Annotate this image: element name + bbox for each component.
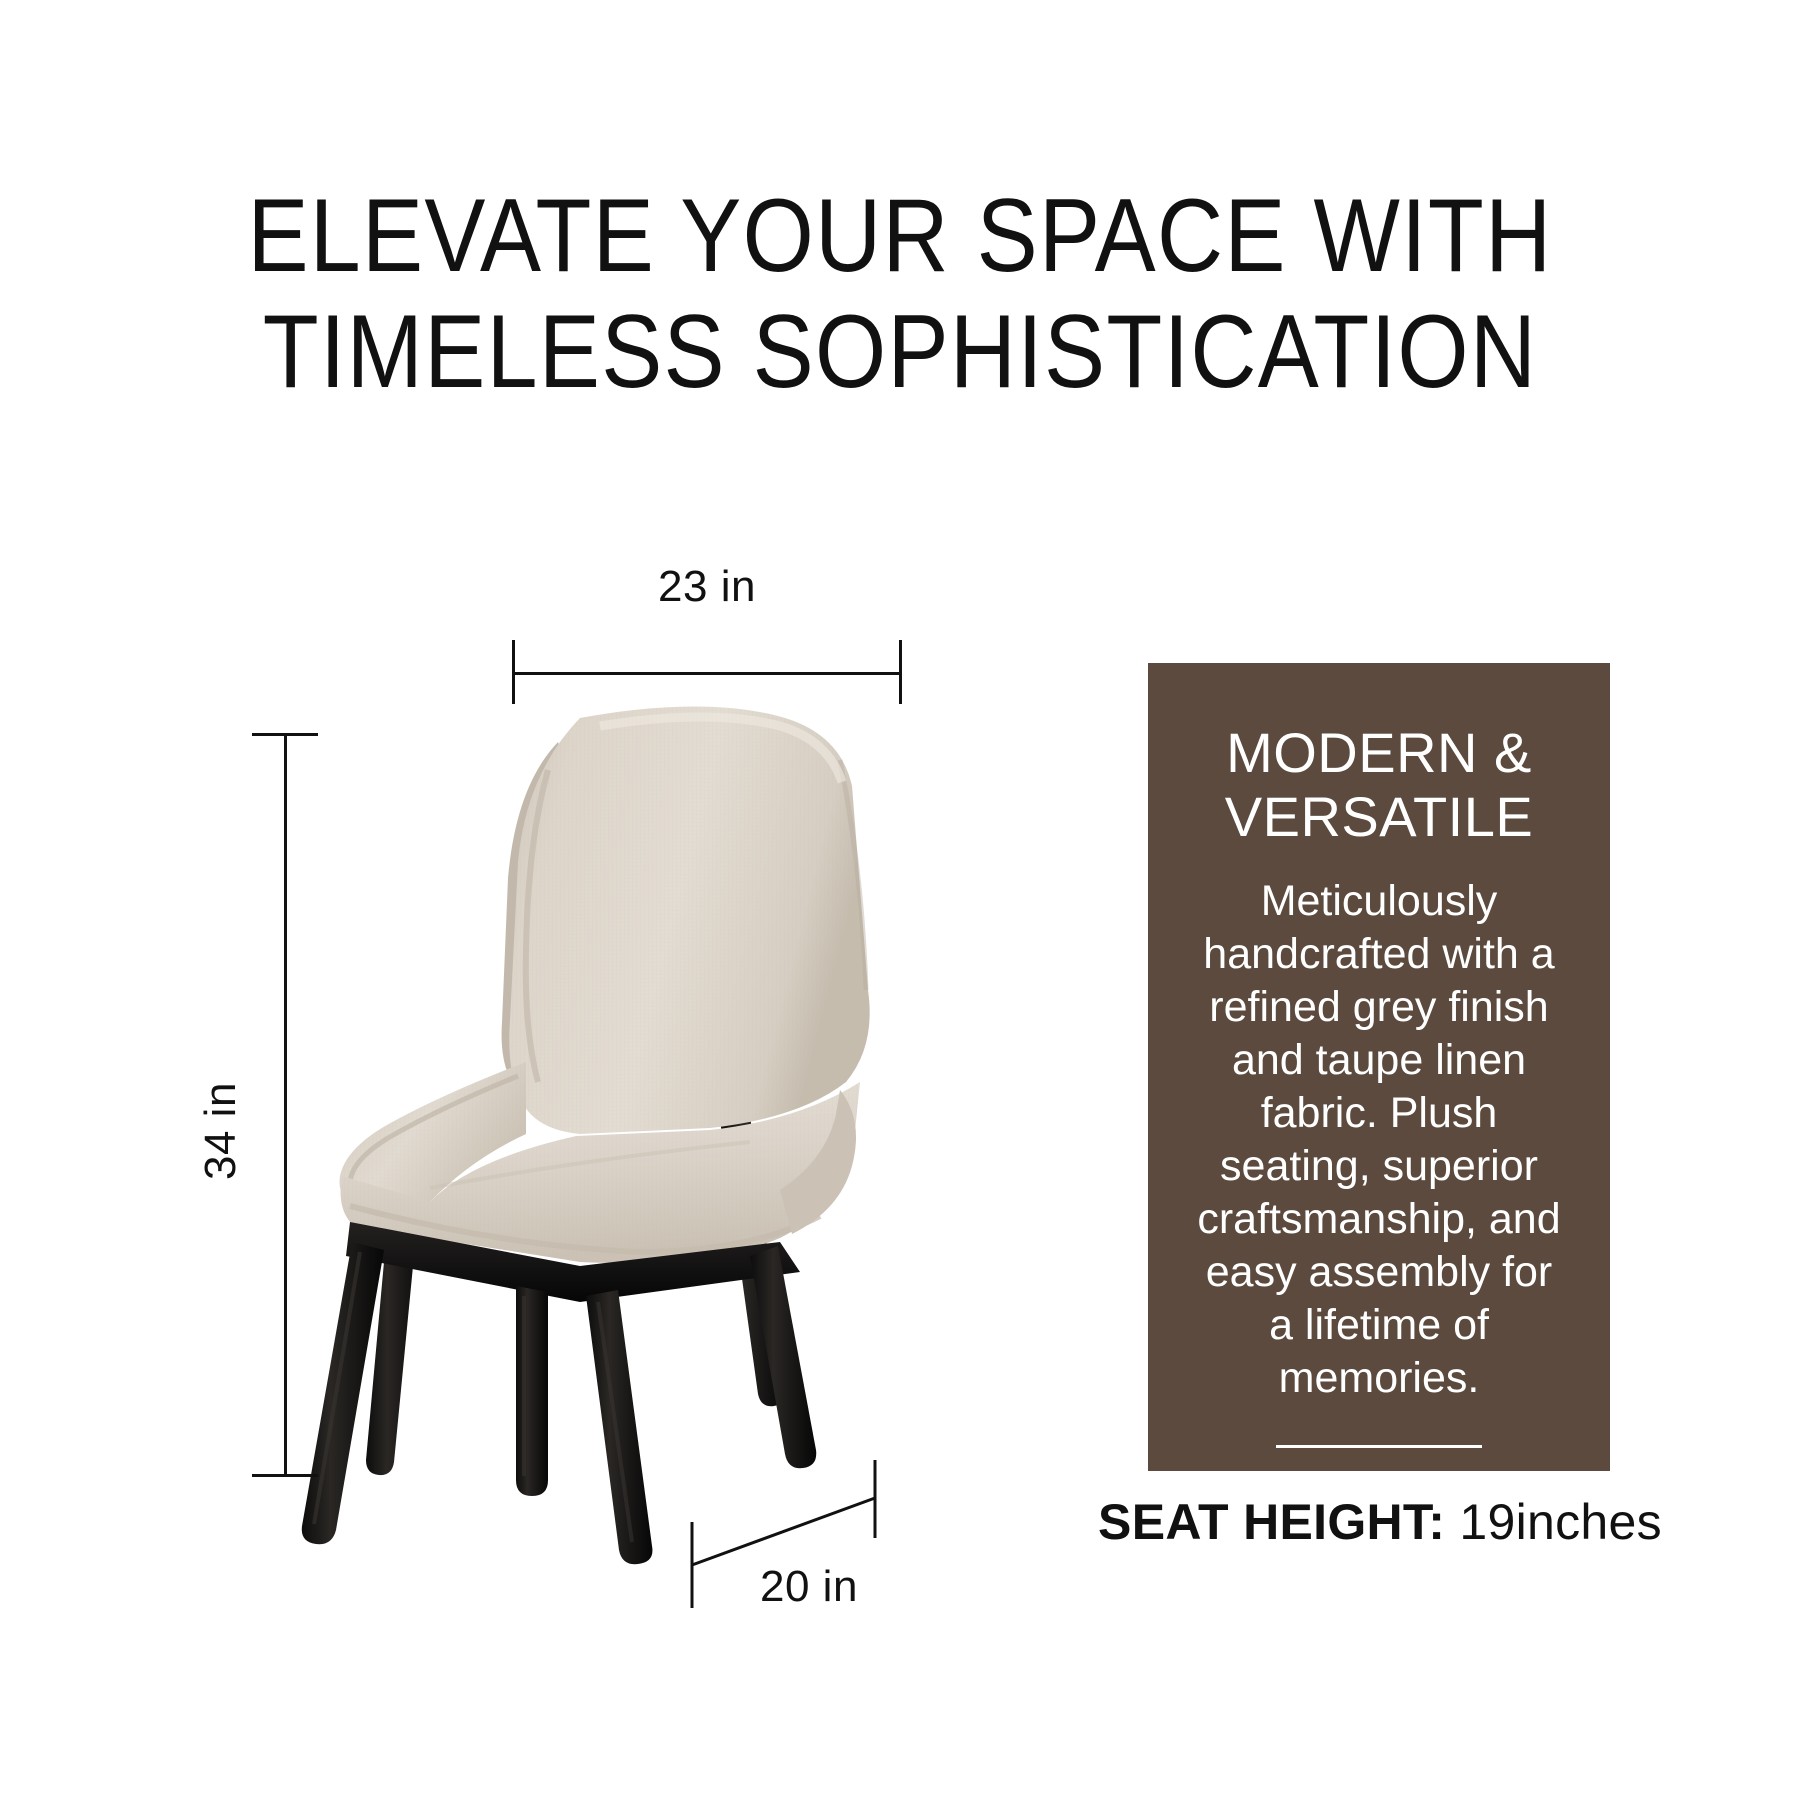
infographic-canvas: ELEVATE YOUR SPACE WITH TIMELESS SOPHIST…	[0, 0, 1800, 1800]
page-title: ELEVATE YOUR SPACE WITH TIMELESS SOPHIST…	[108, 178, 1692, 410]
height-dimension-bar	[284, 733, 287, 1477]
depth-dimension-label: 20 in	[760, 1562, 858, 1612]
height-dimension-tick-top	[252, 733, 318, 736]
chair-leg-front-left	[302, 1242, 384, 1544]
height-dimension-tick-bottom	[252, 1474, 318, 1477]
height-dimension-label: 34 in	[196, 1082, 246, 1180]
seat-height-row: SEAT HEIGHT: 19inches	[1060, 1493, 1700, 1551]
chair-leg-center-front	[516, 1286, 548, 1496]
width-dimension-tick-left	[512, 640, 515, 704]
width-dimension-bar	[512, 672, 902, 675]
width-dimension-label: 23 in	[512, 562, 902, 612]
feature-panel-body: Meticulously handcrafted with a refined …	[1188, 875, 1570, 1405]
chair-backrest	[502, 706, 870, 1134]
seat-height-label: SEAT HEIGHT:	[1098, 1494, 1445, 1550]
product-image-chair	[280, 690, 920, 1590]
width-dimension-tick-right	[899, 640, 902, 704]
feature-panel-title: MODERN & VERSATILE	[1188, 721, 1570, 849]
chair-leg-front-right	[586, 1290, 652, 1564]
feature-panel: MODERN & VERSATILE Meticulously handcraf…	[1148, 663, 1610, 1471]
seat-height-value: 19inches	[1459, 1494, 1662, 1550]
feature-panel-divider	[1276, 1445, 1482, 1448]
